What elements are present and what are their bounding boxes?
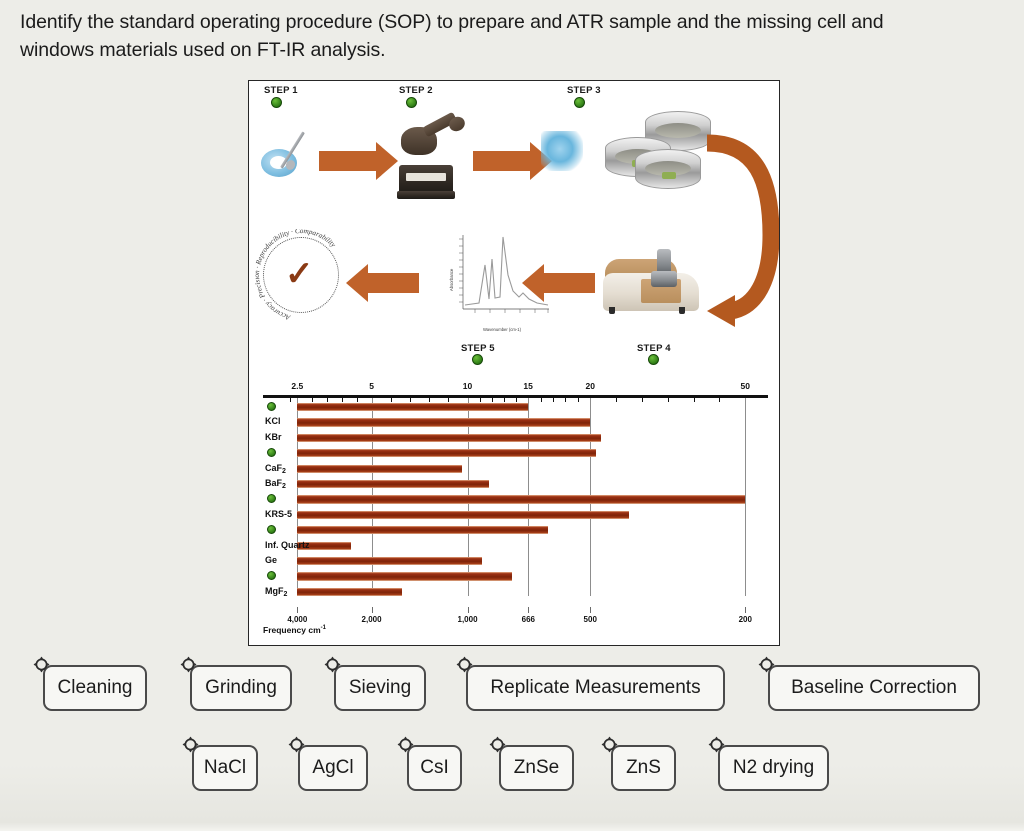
chart-bottom-label: 500 bbox=[584, 615, 597, 624]
chart-tick-minor bbox=[668, 397, 669, 402]
chart-bar bbox=[297, 572, 512, 580]
chart-bar bbox=[297, 449, 596, 457]
chart-tick-minor bbox=[492, 397, 493, 402]
chart-tick-minor bbox=[578, 397, 579, 402]
chart-tick-minor bbox=[541, 397, 542, 402]
answer-chip-sieving[interactable]: Sieving bbox=[334, 665, 426, 711]
chart-tick-minor bbox=[719, 397, 720, 402]
chart-bar bbox=[297, 557, 482, 565]
chart-tick-label: 10 bbox=[463, 381, 472, 391]
answer-chip-replicate-measurements[interactable]: Replicate Measurements bbox=[466, 665, 725, 711]
move-drag-handle-icon[interactable] bbox=[182, 736, 199, 753]
chart-row-label: Ge bbox=[265, 555, 277, 565]
move-drag-handle-icon[interactable] bbox=[489, 736, 506, 753]
chart-tick-minor bbox=[504, 397, 505, 402]
chart-tick-minor bbox=[410, 397, 411, 402]
chart-bottom-label: 4,000 bbox=[287, 615, 307, 624]
chart-row-label: KRS-5 bbox=[265, 509, 292, 519]
chart-missing-answer-dot[interactable] bbox=[267, 494, 276, 503]
flow-arrow-1 bbox=[319, 151, 377, 171]
sop-figure: STEP 1 STEP 2 STEP 3 STEP 4 STEP 5 bbox=[248, 80, 780, 646]
chart-bar bbox=[297, 403, 528, 411]
chart-tick-minor bbox=[357, 397, 358, 402]
step-1-label: STEP 1 bbox=[264, 85, 298, 96]
question-line-1: Identify the standard operating procedur… bbox=[20, 8, 1010, 36]
move-drag-handle-icon[interactable] bbox=[708, 736, 725, 753]
question-line-2: windows materials used on FT-IR analysis… bbox=[20, 36, 1010, 64]
chart-row-label: BaF2 bbox=[265, 478, 286, 490]
answer-chip-nacl[interactable]: NaCl bbox=[192, 745, 258, 791]
step-5-label: STEP 5 bbox=[461, 343, 495, 354]
step-5-dot bbox=[472, 354, 483, 365]
answer-chip-znse[interactable]: ZnSe bbox=[499, 745, 574, 791]
spectrum-x-label: Wavenumber (cm-1) bbox=[483, 327, 521, 332]
move-drag-handle-icon[interactable] bbox=[397, 736, 414, 753]
ground-powder-icon bbox=[541, 131, 583, 171]
chart-bar bbox=[297, 418, 590, 426]
answer-chip-csi[interactable]: CsI bbox=[407, 745, 462, 791]
chart-row-label: Inf. Quartz bbox=[265, 540, 310, 550]
mortar-pestle-press-icon bbox=[397, 117, 469, 207]
answer-chip-zns[interactable]: ZnS bbox=[611, 745, 676, 791]
ftir-spectrometer-icon bbox=[601, 249, 709, 325]
chart-missing-answer-dot[interactable] bbox=[267, 571, 276, 580]
chart-bottom-tick bbox=[468, 607, 469, 613]
move-drag-handle-icon[interactable] bbox=[288, 736, 305, 753]
chart-missing-answer-dot[interactable] bbox=[267, 402, 276, 411]
sample-droplet-icon bbox=[261, 127, 317, 179]
chart-bar bbox=[297, 480, 489, 488]
chart-gridline bbox=[745, 398, 746, 596]
chart-tick-minor bbox=[616, 397, 617, 402]
move-drag-handle-icon[interactable] bbox=[601, 736, 618, 753]
step-3-label: STEP 3 bbox=[567, 85, 601, 96]
chart-bar bbox=[297, 588, 402, 596]
chart-bar bbox=[297, 526, 548, 534]
chart-tick-minor bbox=[448, 397, 449, 402]
step-1-dot bbox=[271, 97, 282, 108]
question-prompt: Identify the standard operating procedur… bbox=[20, 8, 1010, 64]
step-4-dot bbox=[648, 354, 659, 365]
chart-bar bbox=[297, 511, 629, 519]
chart-missing-answer-dot[interactable] bbox=[267, 448, 276, 457]
chart-bottom-tick bbox=[528, 607, 529, 613]
chart-tick-minor bbox=[312, 397, 313, 402]
chart-tick-minor bbox=[327, 397, 328, 402]
step-2-label: STEP 2 bbox=[399, 85, 433, 96]
spectrum-plot-icon bbox=[445, 229, 555, 329]
flow-arrow-curved bbox=[701, 131, 779, 327]
chart-row-label: MgF2 bbox=[265, 586, 287, 598]
answer-chip-grinding[interactable]: Grinding bbox=[190, 665, 292, 711]
move-drag-handle-icon[interactable] bbox=[456, 656, 473, 673]
chart-bottom-tick bbox=[745, 607, 746, 613]
spectrum-y-label: Absorbance bbox=[449, 269, 454, 291]
chart-bottom-label: 2,000 bbox=[362, 615, 382, 624]
flow-arrow-4 bbox=[367, 273, 419, 293]
chart-tick-minor bbox=[290, 397, 291, 402]
chart-tick-label: 5 bbox=[369, 381, 374, 391]
chart-tick-label: 2.5 bbox=[291, 381, 303, 391]
chart-bar bbox=[297, 434, 600, 442]
chart-bottom-tick bbox=[297, 607, 298, 613]
chart-bar bbox=[297, 465, 461, 473]
chart-missing-answer-dot[interactable] bbox=[267, 525, 276, 534]
chart-bottom-tick bbox=[372, 607, 373, 613]
chart-bottom-tick bbox=[590, 607, 591, 613]
flow-diagram: STEP 1 STEP 2 STEP 3 STEP 4 STEP 5 bbox=[249, 81, 779, 379]
chart-tick-minor bbox=[694, 397, 695, 402]
chart-tick-minor bbox=[642, 397, 643, 402]
step-4-label: STEP 4 bbox=[637, 343, 671, 354]
chart-tick-label: 15 bbox=[523, 381, 532, 391]
chart-tick-label: 20 bbox=[586, 381, 595, 391]
answer-chip-n2-drying[interactable]: N2 drying bbox=[718, 745, 829, 791]
chart-tick-label: 50 bbox=[741, 381, 750, 391]
checkmark-icon: ✓ bbox=[285, 257, 314, 291]
chart-row-label: KCl bbox=[265, 416, 281, 426]
move-drag-handle-icon[interactable] bbox=[33, 656, 50, 673]
chart-tick-minor bbox=[342, 397, 343, 402]
chart-tick-minor bbox=[553, 397, 554, 402]
answer-chip-baseline-correction[interactable]: Baseline Correction bbox=[768, 665, 980, 711]
move-drag-handle-icon[interactable] bbox=[324, 656, 341, 673]
step-2-dot bbox=[406, 97, 417, 108]
move-drag-handle-icon[interactable] bbox=[758, 656, 775, 673]
sieve-icon bbox=[587, 109, 717, 199]
chart-bottom-label: 200 bbox=[739, 615, 752, 624]
transmission-range-chart: 2.5510152050 KClKBrCaF2BaF2KRS-5Inf. Qua… bbox=[249, 381, 779, 645]
answer-chip-cleaning[interactable]: Cleaning bbox=[43, 665, 147, 711]
chart-tick-minor bbox=[516, 397, 517, 402]
page-root: Identify the standard operating procedur… bbox=[0, 0, 1024, 831]
chart-row-label: CaF2 bbox=[265, 463, 286, 475]
answer-chip-agcl[interactable]: AgCl bbox=[298, 745, 368, 791]
chart-tick-minor bbox=[480, 397, 481, 402]
chart-tick-minor bbox=[565, 397, 566, 402]
chart-tick-minor bbox=[429, 397, 430, 402]
chart-row-label: KBr bbox=[265, 432, 282, 442]
frequency-caption: Frequency cm-1 bbox=[263, 625, 326, 635]
chart-bottom-label: 666 bbox=[522, 615, 535, 624]
step-3-dot bbox=[574, 97, 585, 108]
chart-bottom-label: 1,000 bbox=[458, 615, 478, 624]
chart-tick-minor bbox=[391, 397, 392, 402]
flow-arrow-2 bbox=[473, 151, 531, 171]
chart-bar bbox=[297, 495, 745, 503]
move-drag-handle-icon[interactable] bbox=[180, 656, 197, 673]
